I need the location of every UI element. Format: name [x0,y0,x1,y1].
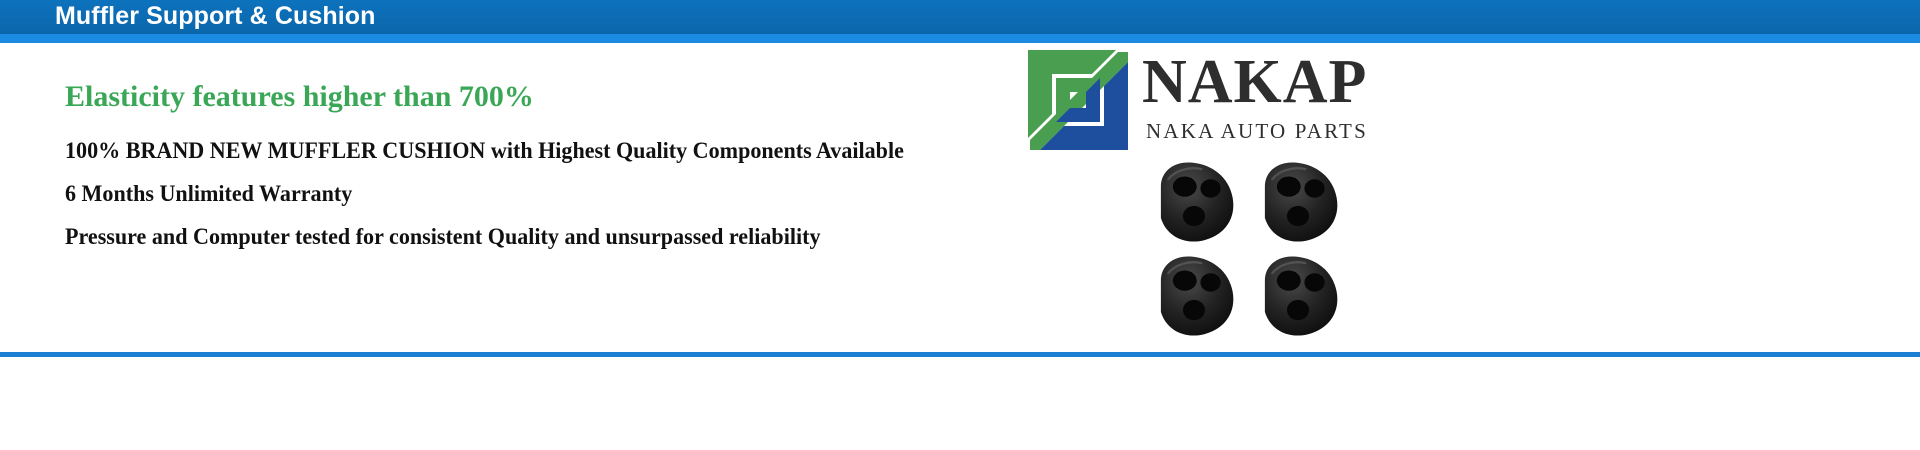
footer-divider [0,352,1920,357]
headline: Elasticity features higher than 700% [65,80,534,114]
page-title: Muffler Support & Cushion [55,0,376,34]
brand-tagline: NAKA AUTO PARTS [1142,118,1422,144]
product-banner: Muffler Support & Cushion Elasticity fea… [0,0,1920,450]
feature-line-3: Pressure and Computer tested for consist… [65,224,820,250]
brand-wordmark: NAKAP NAKA AUTO PARTS [1142,46,1422,144]
product-image [1140,155,1370,350]
brand-logo: NAKAP NAKA AUTO PARTS [1022,44,1422,156]
feature-line-2: 6 Months Unlimited Warranty [65,181,352,207]
header-accent-strip [0,34,1920,43]
nakap-logo-icon [1022,44,1134,156]
feature-line-1: 100% BRAND NEW MUFFLER CUSHION with High… [65,138,904,164]
brand-name: NAKAP [1142,46,1422,118]
